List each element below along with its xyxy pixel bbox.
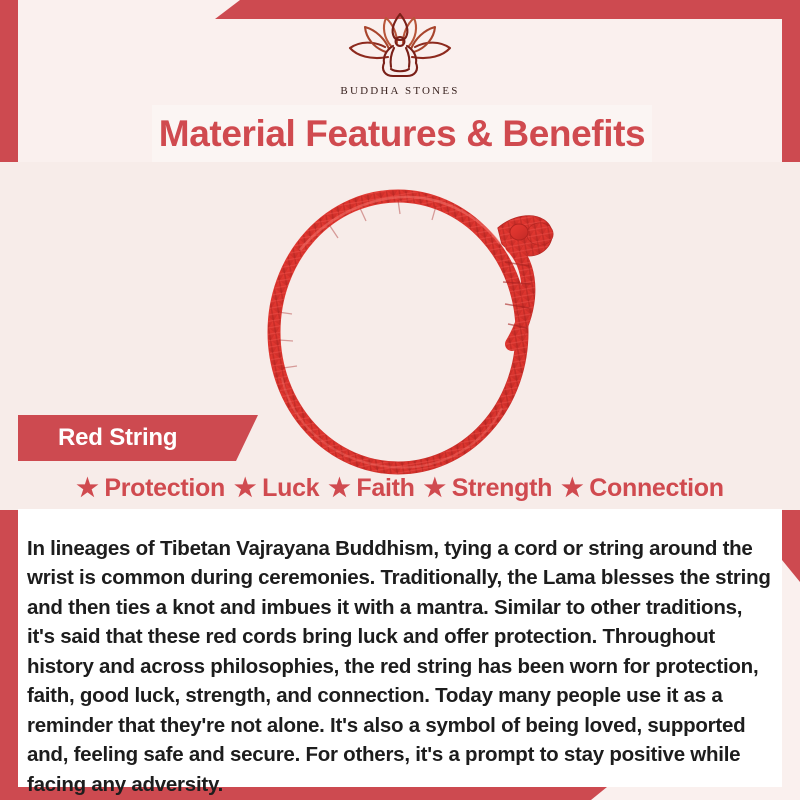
lotus-meditation-icon <box>341 10 459 82</box>
benefit-item: ★ Faith <box>328 474 414 503</box>
star-icon: ★ <box>328 476 350 501</box>
benefit-item: ★ Connection <box>561 474 724 503</box>
benefits-row: ★ Protection ★ Luck ★ Faith ★ Strength ★… <box>18 468 782 508</box>
infographic-page: BUDDHA STONES Material Features & Benefi… <box>0 0 800 800</box>
material-banner-label: Red String <box>58 424 177 452</box>
star-icon: ★ <box>424 476 446 501</box>
star-icon: ★ <box>76 476 98 501</box>
star-icon: ★ <box>234 476 256 501</box>
page-title: Material Features & Benefits <box>159 113 645 155</box>
brand-logo: BUDDHA STONES <box>0 10 800 97</box>
benefit-label: Protection <box>104 474 225 503</box>
benefit-label: Luck <box>262 474 319 503</box>
benefit-item: ★ Luck <box>234 474 319 503</box>
description-panel: In lineages of Tibetan Vajrayana Buddhis… <box>18 509 782 787</box>
benefit-item: ★ Protection <box>76 474 225 503</box>
brand-wordmark: BUDDHA STONES <box>0 85 800 97</box>
benefit-label: Faith <box>356 474 414 503</box>
title-band: Material Features & Benefits <box>152 105 652 162</box>
description-text: In lineages of Tibetan Vajrayana Buddhis… <box>27 534 775 800</box>
star-icon: ★ <box>561 476 583 501</box>
benefit-item: ★ Strength <box>424 474 553 503</box>
material-banner: Red String <box>18 415 258 461</box>
benefit-label: Connection <box>589 474 724 503</box>
benefit-label: Strength <box>452 474 552 503</box>
